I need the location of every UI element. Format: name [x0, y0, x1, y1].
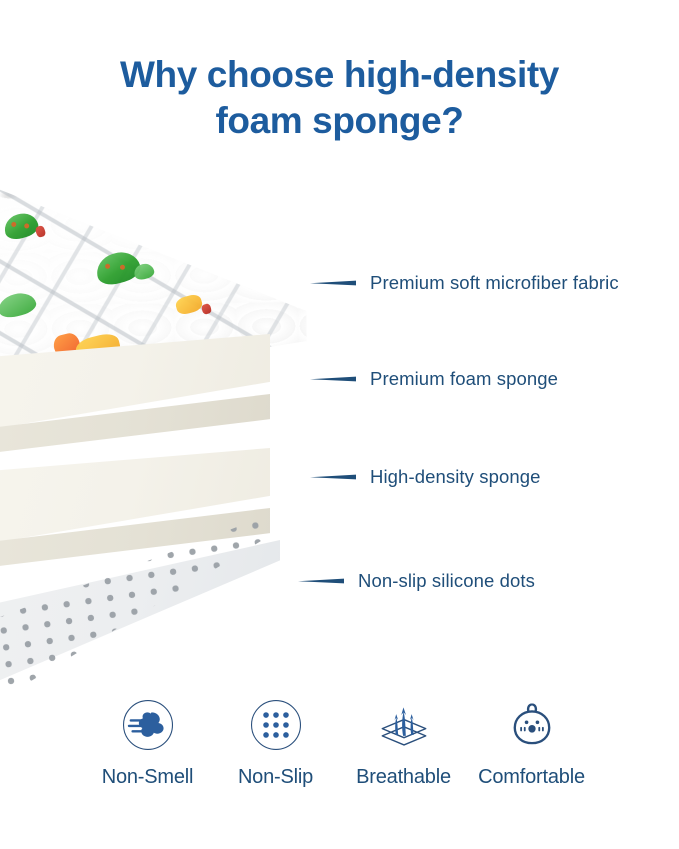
fabric-motif-dot	[119, 264, 125, 270]
page-title: Why choose high-density foam sponge?	[0, 52, 679, 144]
airflow-layers-icon	[373, 694, 435, 756]
feature-non-slip: Non-Slip	[212, 694, 340, 789]
callout-label: High-density sponge	[358, 466, 541, 488]
baby-face-icon	[501, 694, 563, 756]
exploded-product-diagram	[0, 148, 316, 688]
leader-line-icon	[298, 577, 346, 585]
fabric-motif-dot	[11, 221, 17, 227]
infographic-page: Why choose high-density foam sponge?	[0, 0, 679, 849]
feature-label: Breathable	[356, 766, 451, 789]
fabric-motif-dot	[24, 223, 30, 229]
leader-line-icon	[310, 279, 358, 287]
dot-grid-icon	[245, 694, 307, 756]
feature-label: Non-Smell	[102, 766, 194, 789]
odor-waves-icon	[117, 694, 179, 756]
callout-label: Premium soft microfiber fabric	[358, 272, 619, 294]
leader-line-icon	[310, 473, 358, 481]
leader-line-icon	[310, 375, 358, 383]
page-title-line-1: Why choose high-density	[0, 52, 679, 98]
feature-non-smell: Non-Smell	[84, 694, 212, 789]
feature-row: Non-Smell	[0, 694, 679, 789]
feature-comfortable: Comfortable	[468, 694, 596, 789]
layer-premium-foam-sponge	[0, 334, 270, 464]
callout-label: Premium foam sponge	[358, 368, 558, 390]
feature-label: Comfortable	[478, 766, 585, 789]
page-title-line-2: foam sponge?	[0, 98, 679, 144]
callout-high-density-sponge: High-density sponge	[310, 466, 541, 488]
feature-label: Non-Slip	[238, 766, 313, 789]
fabric-motif-dot	[105, 263, 111, 269]
callout-non-slip-silicone-dots: Non-slip silicone dots	[298, 570, 535, 592]
feature-breathable: Breathable	[340, 694, 468, 789]
layer-silicone-dot-sheet	[0, 540, 280, 710]
callout-microfiber-fabric: Premium soft microfiber fabric	[310, 272, 619, 294]
callout-label: Non-slip silicone dots	[346, 570, 535, 592]
callout-premium-foam-sponge: Premium foam sponge	[310, 368, 558, 390]
